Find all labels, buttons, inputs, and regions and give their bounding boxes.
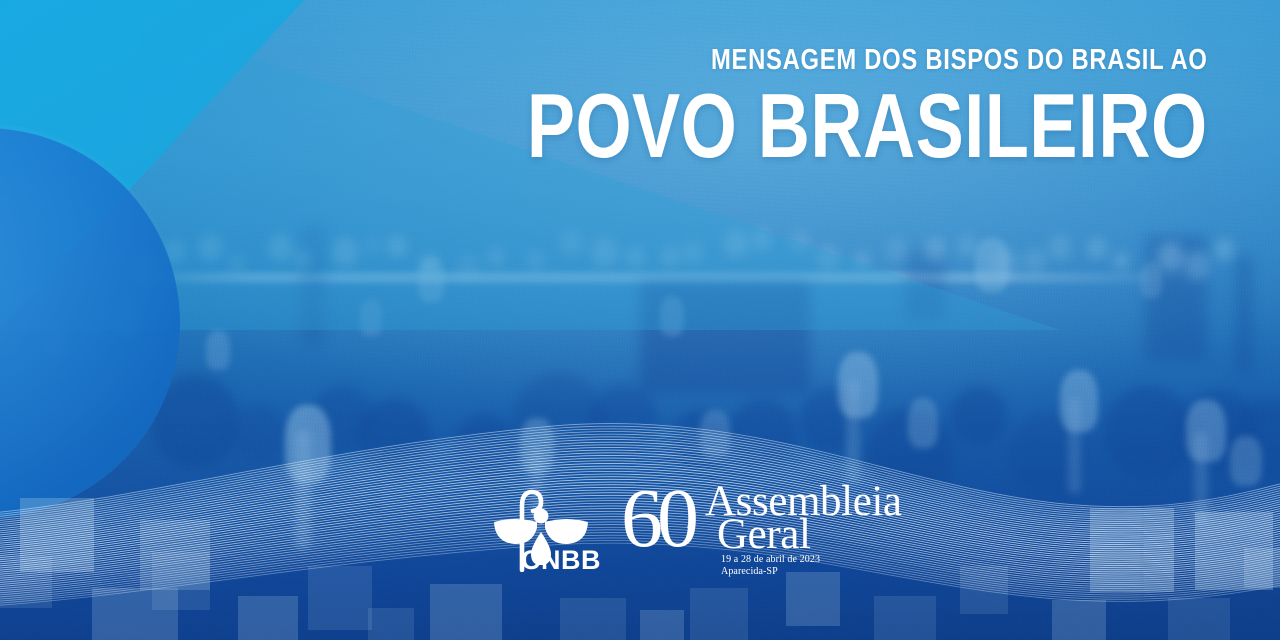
eyebrow-text: MENSAGEM DOS BISPOS DO BRASIL AO (559, 46, 1208, 75)
assembly-logo: 60 ª Assembleia Geral 19 a 28 de abril d… (621, 482, 931, 574)
translucent-square (0, 556, 52, 608)
translucent-square (786, 572, 840, 626)
headline-block: MENSAGEM DOS BISPOS DO BRASIL AO POVO BR… (416, 46, 1208, 167)
logo-lockup: CNBB 60 ª Assembleia Geral 19 a 28 de ab… (487, 482, 931, 574)
translucent-square (1052, 600, 1106, 640)
cnbb-logo: CNBB (487, 484, 599, 572)
translucent-square (1168, 598, 1230, 640)
assembly-meta: 19 a 28 de abril de 2023 Aparecida-SP (721, 554, 820, 579)
translucent-square (640, 610, 684, 640)
translucent-square (560, 598, 626, 640)
assembly-ordinal: ª (687, 518, 694, 544)
translucent-square (874, 596, 936, 640)
translucent-square (1090, 508, 1174, 592)
cnbb-wordmark: CNBB (521, 547, 601, 574)
translucent-square (368, 608, 414, 640)
translucent-square (430, 584, 502, 640)
assembly-dates: 19 a 28 de abril de 2023 (721, 554, 820, 565)
assembly-number: 60 (621, 484, 693, 555)
page-title: POVO BRASILEIRO (527, 84, 1208, 170)
poster-canvas: MENSAGEM DOS BISPOS DO BRASIL AO POVO BR… (0, 0, 1280, 640)
assembly-location: Aparecida-SP (721, 566, 778, 577)
translucent-square (960, 566, 1008, 614)
translucent-square (238, 596, 298, 640)
translucent-square (690, 588, 748, 640)
translucent-square (1244, 548, 1280, 588)
translucent-square (152, 552, 210, 610)
translucent-square (308, 566, 372, 630)
assembly-line-2: Geral (717, 513, 811, 556)
